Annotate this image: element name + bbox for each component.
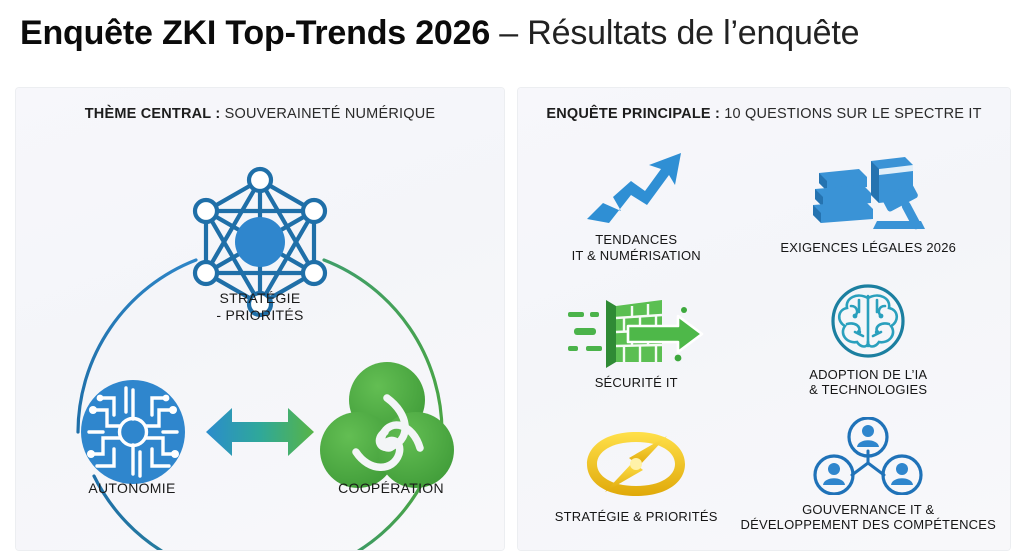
- person-icon-left: [815, 456, 853, 494]
- left-panel-header: THÈME CENTRAL : SOUVERAINETÉ NUMÉRIQUE: [16, 106, 504, 122]
- people-network-governance-icon: [812, 417, 924, 495]
- firewall-brick-arrow-icon: [566, 290, 706, 368]
- survey-topic-governance: GOUVERNANCE IT & DÉVELOPPEMENT DES COMPÉ…: [740, 407, 996, 542]
- node-label-cooperation-line1: COOPÉRATION: [338, 480, 444, 496]
- survey-topic-governance-label: GOUVERNANCE IT & DÉVELOPPEMENT DES COMPÉ…: [740, 502, 996, 533]
- left-panel-central-theme: THÈME CENTRAL : SOUVERAINETÉ NUMÉRIQUE: [16, 88, 504, 550]
- right-panel-header-value: 10 QUESTIONS SUR LE SPECTRE IT: [720, 106, 982, 122]
- survey-topic-security-line1: SÉCURITÉ IT: [595, 375, 678, 390]
- survey-topic-legal: EXIGENCES LÉGALES 2026: [740, 138, 996, 273]
- survey-topic-ai-line2: & TECHNOLOGIES: [809, 382, 927, 398]
- node-label-strategy-line1: STRATÉGIE: [219, 290, 300, 306]
- ai-brain-circle-icon: [825, 282, 911, 360]
- survey-topic-security-label: SÉCURITÉ IT: [595, 375, 678, 391]
- double-headed-arrow-icon: [206, 408, 314, 456]
- survey-topic-ai-label: ADOPTION DE L’IA & TECHNOLOGIES: [809, 367, 927, 398]
- survey-topic-trends-line2: IT & NUMÉRISATION: [572, 248, 701, 264]
- network-center-node: [235, 217, 285, 267]
- node-label-autonomy-line1: AUTONOMIE: [88, 480, 175, 496]
- survey-topics-grid: TENDANCES IT & NUMÉRISATION: [532, 138, 996, 542]
- node-label-strategy: STRATÉGIE - PRIORITÉS: [180, 290, 340, 324]
- compass-strategy-icon: [581, 424, 691, 502]
- right-panel-main-survey: ENQUÊTE PRINCIPALE : 10 QUESTIONS SUR LE…: [518, 88, 1010, 550]
- survey-topic-strategy-line1: STRATÉGIE & PRIORITÉS: [555, 509, 718, 524]
- survey-topic-legal-label: EXIGENCES LÉGALES 2026: [780, 240, 956, 256]
- left-panel-header-value: SOUVERAINETÉ NUMÉRIQUE: [220, 106, 435, 122]
- survey-topic-trends: TENDANCES IT & NUMÉRISATION: [532, 138, 740, 273]
- survey-topic-ai-line1: ADOPTION DE L’IA: [809, 367, 927, 382]
- right-panel-header: ENQUÊTE PRINCIPALE : 10 QUESTIONS SUR LE…: [518, 106, 1010, 122]
- survey-topic-governance-line2: DÉVELOPPEMENT DES COMPÉTENCES: [740, 517, 996, 533]
- law-books-gavel-icon: [809, 155, 927, 233]
- page-title: Enquête ZKI Top-Trends 2026 – Résultats …: [20, 14, 1010, 66]
- node-label-cooperation: COOPÉRATION: [311, 480, 471, 497]
- page-title-subtitle: – Résultats de l’enquête: [490, 14, 859, 52]
- node-label-strategy-line2: - PRIORITÉS: [216, 307, 303, 323]
- node-label-autonomy: AUTONOMIE: [52, 480, 212, 497]
- page-title-main: Enquête ZKI Top-Trends 2026: [20, 14, 490, 52]
- survey-topic-strategy-label: STRATÉGIE & PRIORITÉS: [555, 509, 718, 525]
- survey-topic-strategy: STRATÉGIE & PRIORITÉS: [532, 407, 740, 542]
- survey-topic-legal-line1: EXIGENCES LÉGALES 2026: [780, 240, 956, 255]
- survey-topic-governance-line1: GOUVERNANCE IT &: [802, 502, 934, 517]
- left-panel-header-label: THÈME CENTRAL :: [85, 106, 221, 122]
- survey-topic-ai: ADOPTION DE L’IA & TECHNOLOGIES: [740, 273, 996, 408]
- circuit-chip-icon: [81, 380, 185, 484]
- survey-topic-trends-line1: TENDANCES: [595, 232, 677, 247]
- person-icon-right: [883, 456, 921, 494]
- sovereignty-triad-diagram: STRATÉGIE - PRIORITÉS AUTONOMIE COOPÉRAT…: [16, 132, 504, 550]
- survey-topic-security: SÉCURITÉ IT: [532, 273, 740, 408]
- trending-up-arrow-icon: [583, 147, 689, 225]
- survey-topic-trends-label: TENDANCES IT & NUMÉRISATION: [572, 232, 701, 263]
- right-panel-header-label: ENQUÊTE PRINCIPALE :: [546, 106, 720, 122]
